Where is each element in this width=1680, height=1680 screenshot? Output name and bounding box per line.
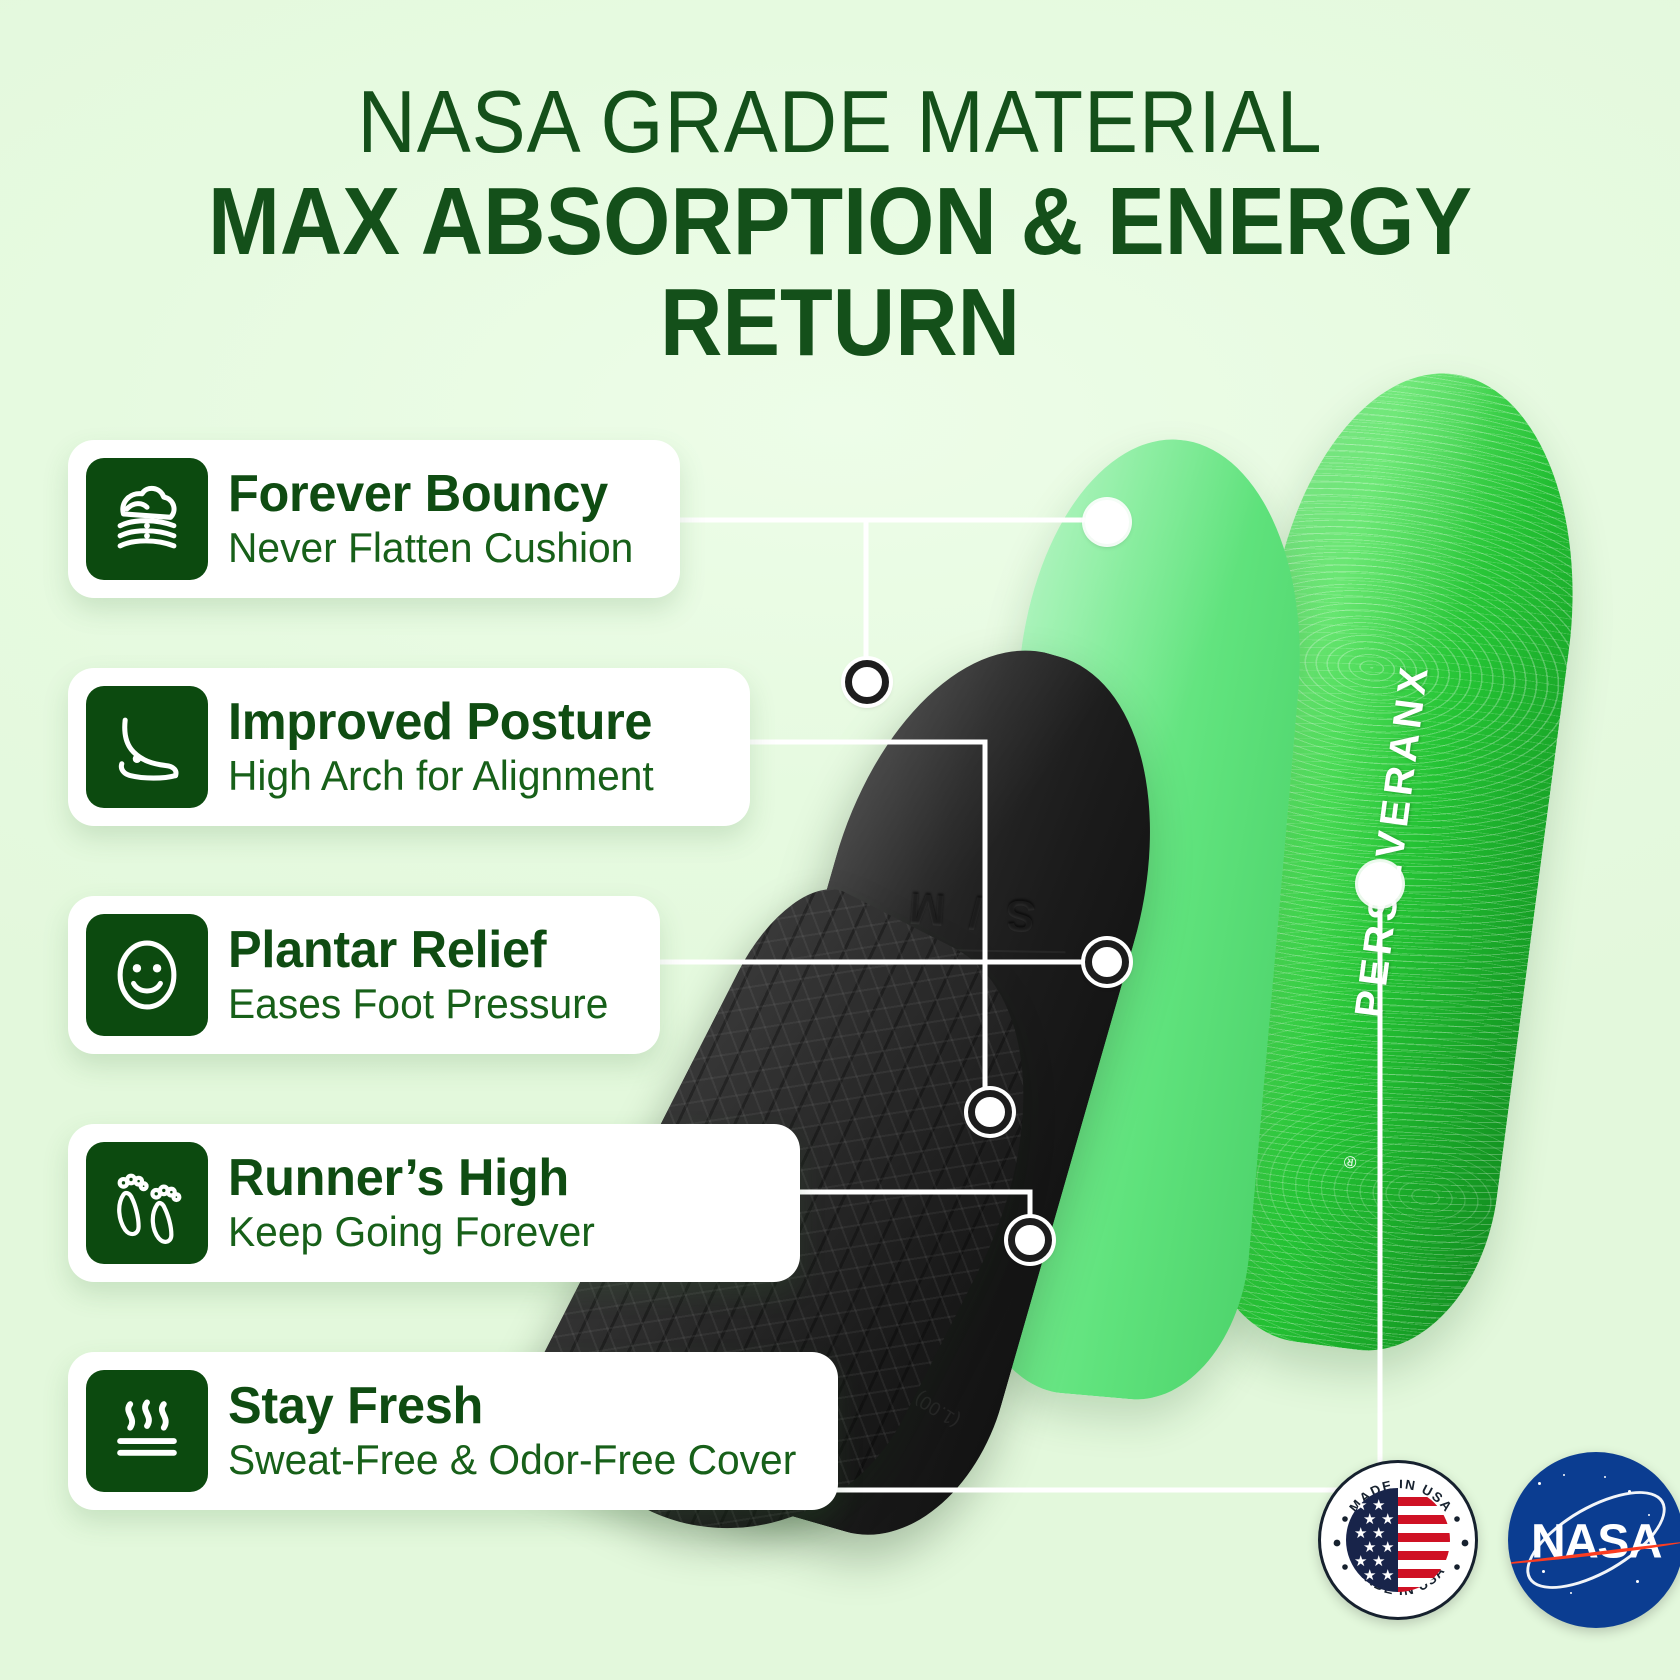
cushion-layers-icon xyxy=(86,458,208,580)
nasa-red-swoosh xyxy=(1508,1540,1680,1566)
page-title: NASA GRADE MATERIAL MAX ABSORPTION & ENE… xyxy=(0,78,1680,374)
feature-title: Runner’s High xyxy=(228,1151,595,1205)
usa-flag-disc: ★ ★ ★ ★ ★ ★ ★ ★ ★ ★ ★ ★ xyxy=(1346,1488,1450,1592)
feature-title: Plantar Relief xyxy=(228,923,608,977)
nasa-badge: NASA xyxy=(1508,1452,1680,1628)
callout-dot-forever-bouncy[interactable] xyxy=(1085,500,1129,544)
feature-card-forever-bouncy[interactable]: Forever Bouncy Never Flatten Cushion xyxy=(68,440,680,598)
feature-subtitle: Sweat-Free & Odor-Free Cover xyxy=(228,1436,796,1483)
callout-dot-stay-fresh[interactable] xyxy=(1358,862,1402,906)
smiley-face-icon xyxy=(86,914,208,1036)
footprints-icon xyxy=(86,1142,208,1264)
title-line-1: NASA GRADE MATERIAL xyxy=(67,78,1613,166)
feature-subtitle: Eases Foot Pressure xyxy=(228,980,608,1027)
callout-dot-runners-high[interactable] xyxy=(968,1090,1012,1134)
title-line-2: MAX ABSORPTION & ENERGY RETURN xyxy=(84,172,1596,374)
feature-card-plantar-relief[interactable]: Plantar Relief Eases Foot Pressure xyxy=(68,896,660,1054)
feature-card-stay-fresh[interactable]: Stay Fresh Sweat-Free & Odor-Free Cover xyxy=(68,1352,838,1510)
callout-dot-improved-posture[interactable] xyxy=(845,660,889,704)
made-in-usa-badge: MADE IN USA MADE IN USA ★ ★ ★ ★ ★ ★ ★ xyxy=(1318,1460,1478,1620)
feature-card-improved-posture[interactable]: Improved Posture High Arch for Alignment xyxy=(68,668,750,826)
feature-title: Forever Bouncy xyxy=(228,467,633,521)
steam-odor-icon xyxy=(86,1370,208,1492)
feature-subtitle: High Arch for Alignment xyxy=(228,752,654,799)
certification-badges: MADE IN USA MADE IN USA ★ ★ ★ ★ ★ ★ ★ xyxy=(1318,1452,1648,1642)
feature-card-runners-high[interactable]: Runner’s High Keep Going Forever xyxy=(68,1124,800,1282)
callout-dot-plantar-relief[interactable] xyxy=(1085,940,1129,984)
feature-title: Improved Posture xyxy=(228,695,654,749)
callout-dot-outsole[interactable] xyxy=(1008,1218,1052,1262)
foot-arch-icon xyxy=(86,686,208,808)
feature-subtitle: Never Flatten Cushion xyxy=(228,524,633,571)
infographic-canvas: NASA GRADE MATERIAL MAX ABSORPTION & ENE… xyxy=(0,0,1680,1680)
feature-subtitle: Keep Going Forever xyxy=(228,1208,595,1255)
registered-mark: ® xyxy=(1343,1151,1358,1172)
usa-flag-canton: ★ ★ ★ ★ ★ ★ ★ ★ ★ ★ ★ ★ xyxy=(1346,1488,1398,1592)
feature-title: Stay Fresh xyxy=(228,1379,796,1433)
